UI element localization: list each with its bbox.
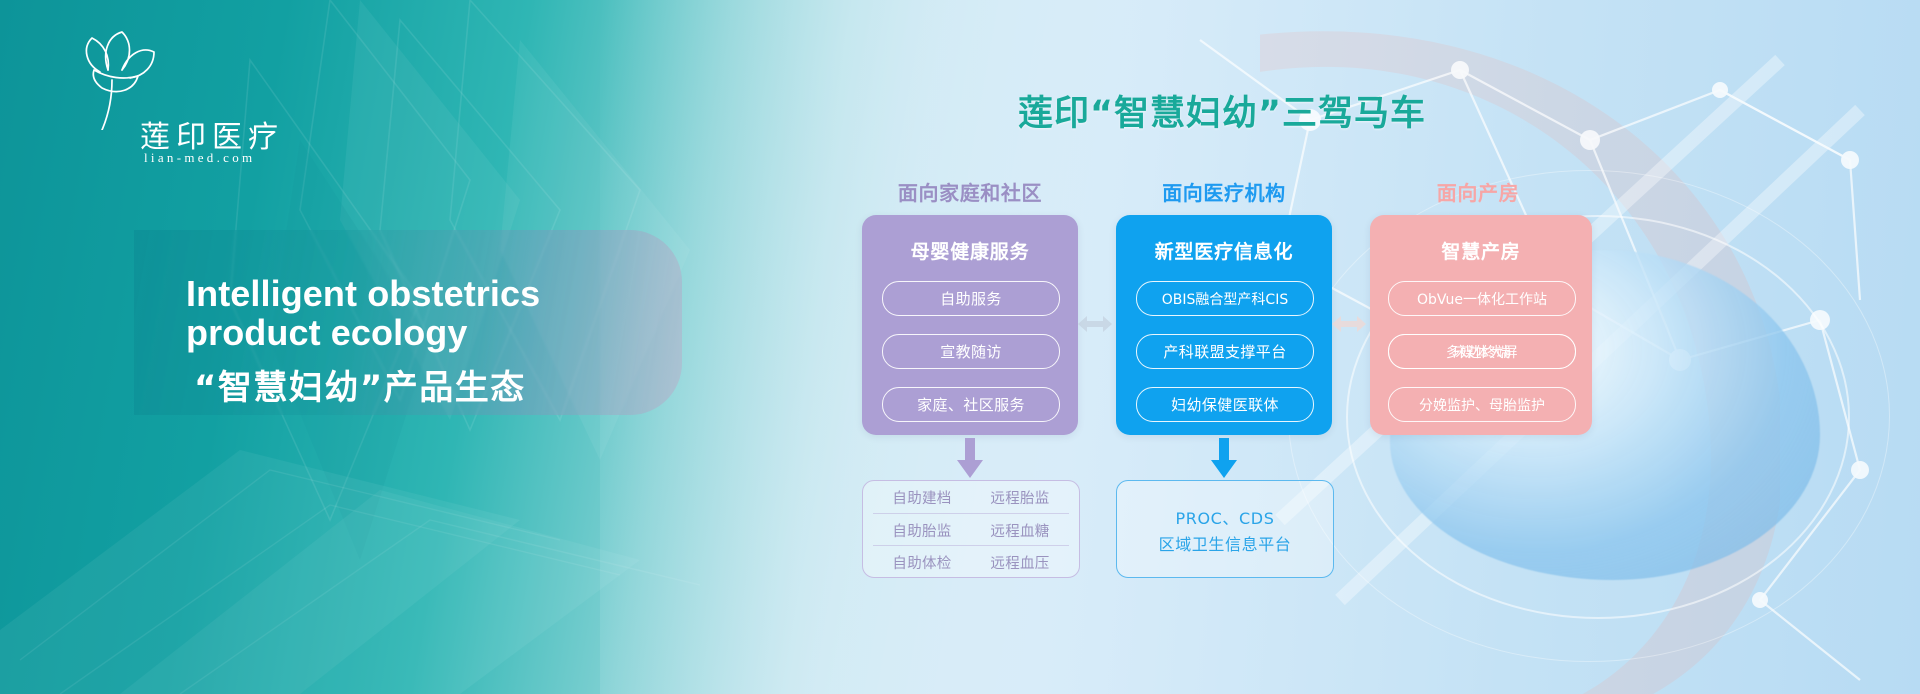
- hero-english-title: Intelligent obstetrics product ecology: [186, 274, 706, 352]
- hero-chinese-title: “智慧妇幼”产品生态: [194, 360, 714, 409]
- proc-cds-label: PROC、CDS: [1117, 505, 1333, 529]
- card-title: 智慧产房: [1370, 237, 1592, 264]
- card-medical-informatization[interactable]: 新型医疗信息化 OBIS融合型产科CIS 产科联盟支撑平台 妇幼保健医联体: [1116, 215, 1332, 435]
- pill-obis-cis[interactable]: OBIS融合型产科CIS: [1136, 281, 1314, 316]
- down-arrow-icon: [957, 438, 983, 478]
- table-row: 自助胎监 远程血糖: [873, 513, 1069, 546]
- double-headed-arrow-icon: [1076, 313, 1114, 335]
- hero-english-line1: Intelligent obstetrics: [186, 274, 706, 313]
- diagram-area: 莲印“智慧妇幼”三驾马车 面向家庭和社区 面向医疗机构 面向产房 母婴健康服务 …: [836, 60, 1876, 680]
- pill-self-service[interactable]: 自助服务: [882, 281, 1060, 316]
- brand-logo: 莲印医疗 lian-med.com: [56, 20, 296, 145]
- table-row: 自助体检 远程血压: [873, 545, 1069, 578]
- column-header-family: 面向家庭和社区: [862, 177, 1078, 206]
- column-header-institution: 面向医疗机构: [1116, 177, 1332, 206]
- cell-self-fetal: 自助胎监: [873, 514, 971, 546]
- pill-labor-fetal-monitoring[interactable]: 分娩监护、母胎监护: [1388, 387, 1576, 422]
- down-arrow-icon: [1211, 438, 1237, 478]
- cell-self-checkup: 自助体检: [873, 546, 971, 578]
- pill-obvue-workstation[interactable]: ObVue一体化工作站: [1388, 281, 1576, 316]
- diagram-title: 莲印“智慧妇幼”三驾马车: [862, 85, 1582, 136]
- slide-canvas: 莲印医疗 lian-med.com Intelligent obstetrics…: [0, 0, 1920, 694]
- column-header-delivery-room: 面向产房: [1370, 177, 1586, 206]
- pill-education-followup[interactable]: 宣教随访: [882, 334, 1060, 369]
- pill-family-community[interactable]: 家庭、社区服务: [882, 387, 1060, 422]
- double-headed-arrow-icon: [1330, 313, 1368, 335]
- cell-self-record: 自助建档: [873, 481, 971, 513]
- bottom-box-family-services: 自助建档 远程胎监 自助胎监 远程血糖 自助体检 远程血压: [862, 480, 1080, 578]
- pill-obstetric-alliance[interactable]: 产科联盟支撑平台: [1136, 334, 1314, 369]
- card-smart-delivery-room[interactable]: 智慧产房 ObVue一体化工作站 床边终端 多媒体大屏 分娩监护、母胎监护: [1370, 215, 1592, 435]
- cell-remote-glucose: 远程血糖: [971, 514, 1069, 546]
- brand-url: lian-med.com: [144, 150, 255, 166]
- regional-platform-label: 区域卫生信息平台: [1117, 531, 1333, 555]
- table-row: 自助建档 远程胎监: [873, 481, 1069, 513]
- cell-remote-fetal: 远程胎监: [971, 481, 1069, 513]
- card-title: 母婴健康服务: [862, 237, 1078, 264]
- bottom-box-regional-platform: PROC、CDS 区域卫生信息平台: [1116, 480, 1334, 578]
- card-title: 新型医疗信息化: [1116, 237, 1332, 264]
- pill-maternal-child-consortium[interactable]: 妇幼保健医联体: [1136, 387, 1314, 422]
- card-maternal-health[interactable]: 母婴健康服务 自助服务 宣教随访 家庭、社区服务: [862, 215, 1078, 435]
- cell-remote-bp: 远程血压: [971, 546, 1069, 578]
- pill-multimedia-screen[interactable]: 多媒体大屏: [1388, 334, 1576, 369]
- hero-english-line2: product ecology: [186, 313, 706, 352]
